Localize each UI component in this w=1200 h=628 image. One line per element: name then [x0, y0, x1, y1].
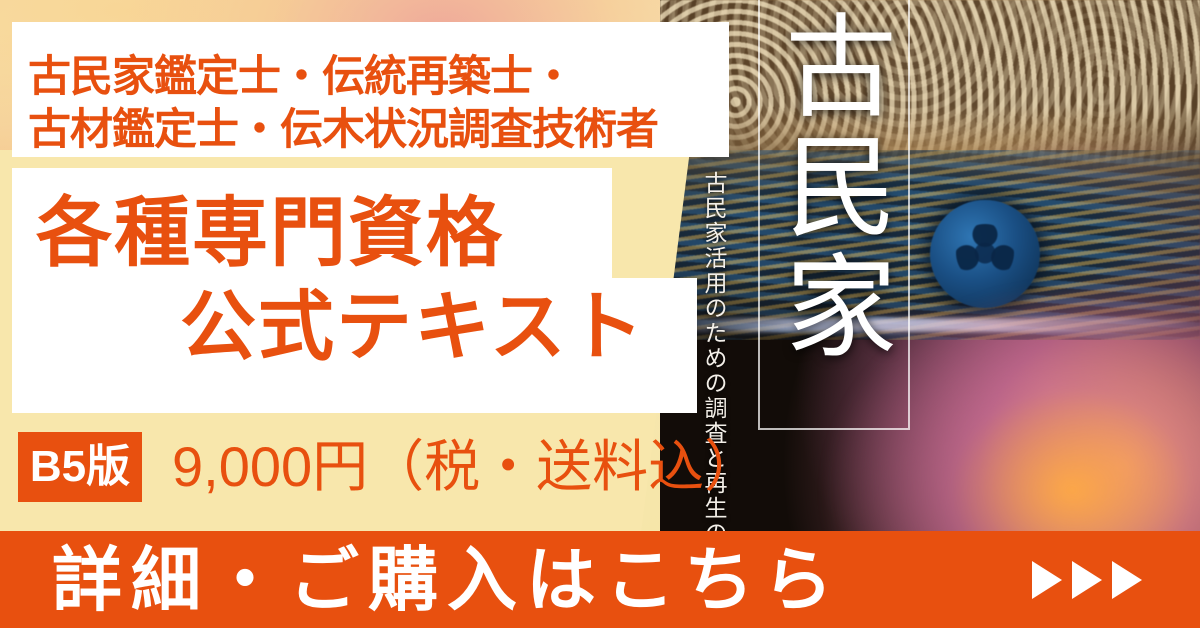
price-text: 9,000円（税・送料込）: [172, 434, 760, 500]
cta-bar[interactable]: 詳細・ご購入はこちら: [0, 531, 1200, 628]
cover-title: 古民家: [770, 8, 898, 428]
carved-wood-swirl-texture: [660, 0, 1200, 170]
headline-panel: 各種専門資格 公式テキスト: [12, 168, 697, 413]
format-badge: B5版: [18, 432, 142, 502]
certifications-line-1: 古民家鑑定士・伝統再築士・: [28, 56, 574, 99]
certifications-line-2: 古材鑑定士・伝木状況調査技術者: [28, 109, 658, 152]
triangle-right-icon: [1032, 561, 1062, 599]
promo-banner: 古民家 伝統構法、古民家活用のための調査と再生の 古民家鑑定士・伝統再築士・ 古…: [0, 0, 1200, 628]
certifications-panel: 古民家鑑定士・伝統再築士・ 古材鑑定士・伝木状況調査技術者: [12, 22, 729, 157]
cta-label: 詳細・ご購入はこちら: [52, 541, 842, 619]
headline-line-1: 各種専門資格: [36, 196, 504, 272]
triangle-right-icon: [1112, 561, 1142, 599]
triangle-right-icon: [1072, 561, 1102, 599]
cta-arrow-group: [1032, 561, 1142, 599]
headline-line-2: 公式テキスト: [180, 290, 646, 366]
